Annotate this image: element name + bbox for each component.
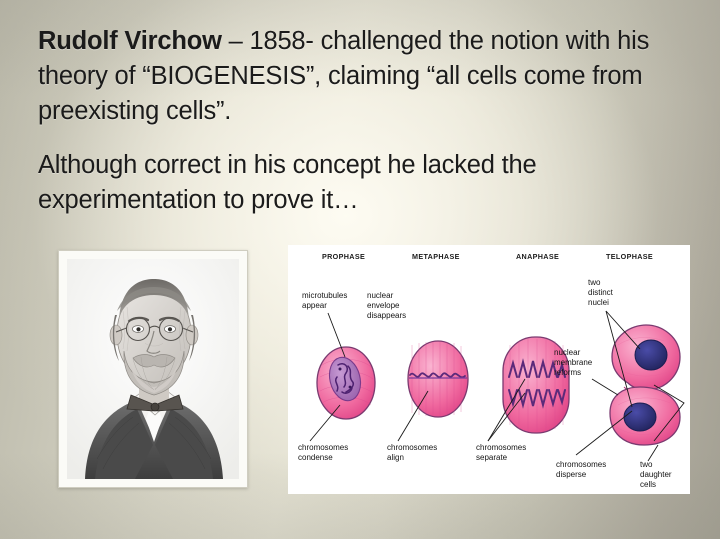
two-daughter-cells-line1: two	[640, 460, 653, 469]
nuclear-envelope-line3: disappears	[367, 311, 406, 320]
microtubules-line1: microtubules	[302, 291, 347, 300]
nuclear-membrane-line3: reforms	[554, 368, 581, 377]
telophase-upper-nucleus	[635, 340, 667, 370]
chromosomes-separate-line2: separate	[476, 453, 508, 462]
chromosomes-separate-line1: chromosomes	[476, 443, 526, 452]
mitosis-stages-illustration: PROPHASE METAPHASE ANAPHASE TELOPHASE	[288, 245, 690, 494]
two-daughter-cells-line2: daughter	[640, 470, 672, 479]
chromosomes-condense-line2: condense	[298, 453, 333, 462]
portrait-frame	[58, 250, 248, 488]
phase-label-anaphase: ANAPHASE	[516, 252, 559, 261]
chromosomes-align-line1: chromosomes	[387, 443, 437, 452]
lead-name: Rudolf Virchow	[38, 27, 222, 55]
phase-label-metaphase: METAPHASE	[412, 252, 460, 261]
nuclear-membrane-line1: nuclear	[554, 348, 581, 357]
slide-text-block: Rudolf Virchow – 1858- challenged the no…	[38, 24, 686, 218]
chromosomes-condense-line1: chromosomes	[298, 443, 348, 452]
telophase-lower-nucleus	[624, 403, 656, 431]
phase-label-prophase: PROPHASE	[322, 252, 365, 261]
nuclear-envelope-line2: envelope	[367, 301, 400, 310]
microtubules-line2: appear	[302, 301, 327, 310]
phase-label-telophase: TELOPHASE	[606, 252, 653, 261]
paragraph-although: Although correct in his concept he lacke…	[38, 148, 686, 218]
virchow-engraving-illustration	[67, 259, 239, 479]
mitosis-diagram-panel: PROPHASE METAPHASE ANAPHASE TELOPHASE	[288, 245, 690, 494]
two-distinct-nuclei-line2: distinct	[588, 288, 614, 297]
two-distinct-nuclei-line1: two	[588, 278, 601, 287]
metaphase-cell	[408, 341, 468, 417]
chromosomes-disperse-line1: chromosomes	[556, 460, 606, 469]
two-distinct-nuclei-line3: nuclei	[588, 298, 609, 307]
chromosomes-align-line2: align	[387, 453, 404, 462]
two-daughter-cells-line3: cells	[640, 480, 656, 489]
paragraph-virchow: Rudolf Virchow – 1858- challenged the no…	[38, 24, 686, 129]
nuclear-envelope-line1: nuclear	[367, 291, 394, 300]
chromosomes-disperse-line2: disperse	[556, 470, 587, 479]
nuclear-membrane-line2: membrane	[554, 358, 593, 367]
portrait-image	[67, 259, 239, 479]
prophase-cell	[317, 347, 375, 419]
slide-canvas: Rudolf Virchow – 1858- challenged the no…	[0, 0, 720, 539]
